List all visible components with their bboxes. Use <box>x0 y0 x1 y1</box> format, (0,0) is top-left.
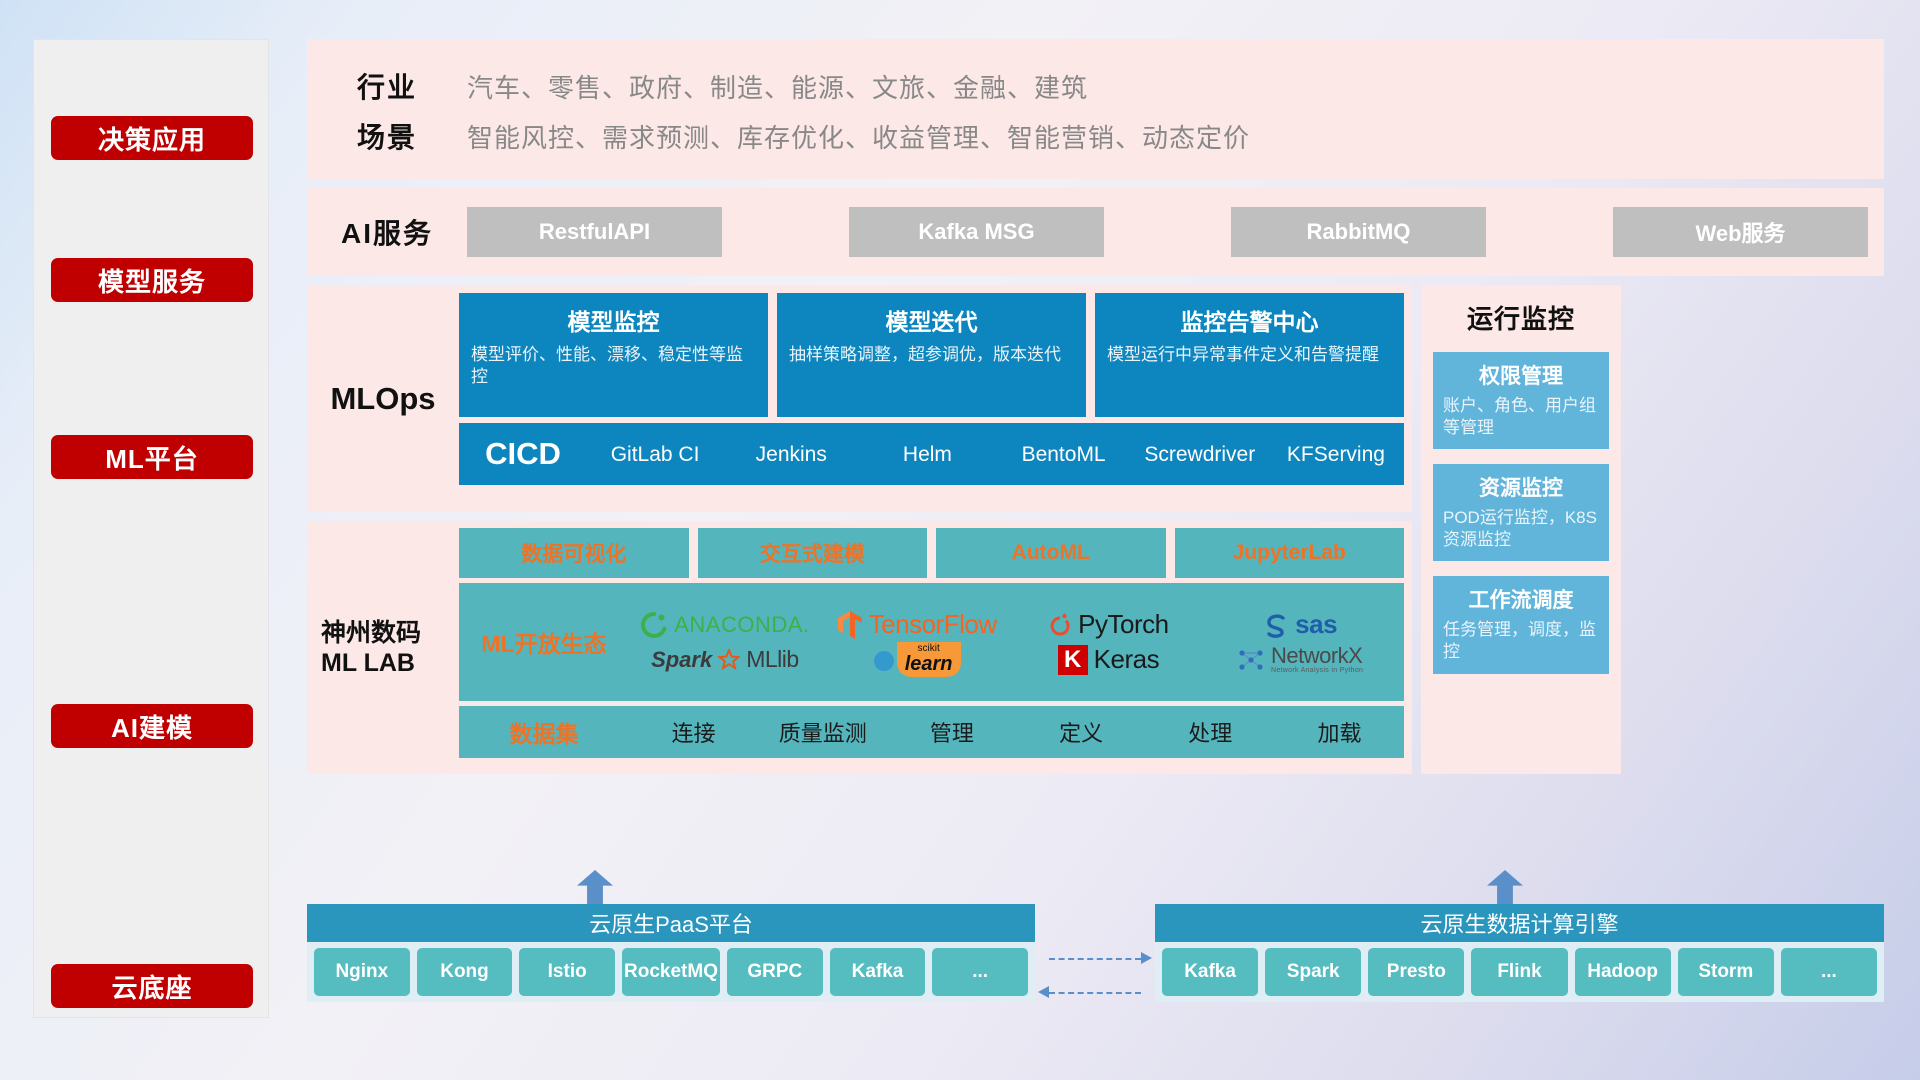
link-arrow-left-line <box>1049 992 1141 994</box>
industry-value: 汽车、零售、政府、制造、能源、文旅、金融、建筑 <box>467 68 1088 105</box>
paas-chip-kafka[interactable]: Kafka <box>830 948 926 996</box>
industry-row: 行业 汽车、零售、政府、制造、能源、文旅、金融、建筑 <box>307 61 1884 111</box>
monitor-card-resource[interactable]: 资源监控 POD运行监控，K8S资源监控 <box>1433 464 1609 561</box>
data-engine-chip-hadoop[interactable]: Hadoop <box>1575 948 1671 996</box>
dataset-item-manage[interactable]: 管理 <box>887 716 1016 748</box>
scenario-value: 智能风控、需求预测、库存优化、收益管理、智能营销、动态定价 <box>467 118 1250 155</box>
ml-lab-band: 神州数码 ML LAB 数据可视化 交互式建模 AutoML JupyterLa… <box>307 521 1412 774</box>
monitor-sidebar-panel: 运行监控 权限管理 账户、角色、用户组等管理 资源监控 POD运行监控，K8S资… <box>1421 285 1621 774</box>
architecture-diagram: 决策应用 模型服务 ML平台 AI建模 云底座 行业 汽车、零售、政府、制造、能… <box>0 0 1920 1080</box>
data-engine-chip-more[interactable]: ... <box>1781 948 1877 996</box>
industry-key: 行业 <box>307 66 467 106</box>
ai-service-chip[interactable]: Kafka MSG <box>849 207 1104 257</box>
rail-item-label: ML平台 <box>105 439 199 476</box>
dataset-item-load[interactable]: 加载 <box>1275 716 1404 748</box>
cicd-item-jenkins[interactable]: Jenkins <box>723 444 859 465</box>
mlops-body: 模型监控 模型评价、性能、漂移、稳定性等监控 模型迭代 抽样策略调整，超参调优，… <box>459 285 1412 512</box>
scenario-key: 场景 <box>307 116 467 156</box>
link-arrow-right-line <box>1049 958 1141 960</box>
ai-service-chip[interactable]: Web服务 <box>1613 207 1868 257</box>
mlops-card-title: 监控告警中心 <box>1107 303 1392 337</box>
mlops-card-title: 模型监控 <box>471 303 756 337</box>
mlops-band: MLOps 模型监控 模型评价、性能、漂移、稳定性等监控 模型迭代 抽样策略调整… <box>307 285 1412 512</box>
anaconda-mark-icon <box>640 611 668 639</box>
networkx-tagline: Network Analysis in Python <box>1271 667 1363 674</box>
paas-chip-grpc[interactable]: GRPC <box>727 948 823 996</box>
paas-up-arrow-icon <box>577 870 613 904</box>
pytorch-mark-icon <box>1048 611 1072 639</box>
dataset-strip: 数据集 连接 质量监测 管理 定义 处理 加载 <box>459 706 1404 758</box>
monitor-sidebar: 运行监控 权限管理 账户、角色、用户组等管理 资源监控 POD运行监控，K8S资… <box>1421 285 1621 783</box>
paas-chip-kong[interactable]: Kong <box>417 948 513 996</box>
mlops-card-desc: 抽样策略调整，超参调优，版本迭代 <box>789 344 1074 366</box>
scikit-learn-logo: scikit learn <box>873 642 961 677</box>
spark-wordmark: Spark <box>651 647 712 673</box>
ml-ecosystem-label: ML开放生态 <box>459 625 629 659</box>
cicd-item-helm[interactable]: Helm <box>859 444 995 465</box>
ai-service-label: AI服务 <box>307 212 467 252</box>
networkx-logo-text: NetworkX <box>1271 645 1363 667</box>
ml-ecosystem-strip: ML开放生态 ANACONDA. <box>459 583 1404 701</box>
tensorflow-logo-text: TensorFlow <box>869 609 997 640</box>
networkx-graph-icon <box>1237 647 1265 673</box>
cicd-item-gitlab-ci[interactable]: GitLab CI <box>587 444 723 465</box>
paas-chip-list: Nginx Kong Istio RocketMQ GRPC Kafka ... <box>307 942 1035 1002</box>
data-engine-chip-storm[interactable]: Storm <box>1678 948 1774 996</box>
pytorch-logo: PyTorch <box>1048 609 1168 640</box>
link-arrow-left-head-icon <box>1038 986 1049 998</box>
cicd-strip: CICD GitLab CI Jenkins Helm BentoML Scre… <box>459 423 1404 485</box>
rail-item-label: 云底座 <box>111 968 192 1005</box>
data-engine-up-arrow-icon <box>1487 870 1523 904</box>
main-column: 行业 汽车、零售、政府、制造、能源、文旅、金融、建筑 场景 智能风控、需求预测、… <box>307 39 1884 783</box>
data-engine-chip-kafka[interactable]: Kafka <box>1162 948 1258 996</box>
tensorflow-mark-icon <box>837 610 863 640</box>
rail-item-ai-modeling[interactable]: AI建模 <box>51 704 253 748</box>
dataset-item-quality[interactable]: 质量监测 <box>758 716 887 748</box>
mllib-logo-text: MLlib <box>746 646 798 673</box>
ml-lab-label-line1: 神州数码 <box>321 618 459 648</box>
cicd-item-bentoml[interactable]: BentoML <box>996 444 1132 465</box>
monitor-card-desc: 账户、角色、用户组等管理 <box>1443 395 1599 439</box>
scikit-learn-badge: scikit learn <box>897 642 961 677</box>
monitor-card-title: 权限管理 <box>1443 360 1599 390</box>
paas-title: 云原生PaaS平台 <box>307 904 1035 942</box>
paas-chip-more[interactable]: ... <box>932 948 1028 996</box>
dataset-label: 数据集 <box>459 715 629 749</box>
sas-mark-icon <box>1263 612 1289 638</box>
mlops-card-title: 模型迭代 <box>789 303 1074 337</box>
cicd-item-kfserving[interactable]: KFServing <box>1268 444 1404 465</box>
rail-item-label: 决策应用 <box>98 120 206 157</box>
platform-section: MLOps 模型监控 模型评价、性能、漂移、稳定性等监控 模型迭代 抽样策略调整… <box>307 285 1884 783</box>
rail-item-label: 模型服务 <box>98 262 206 299</box>
cicd-item-screwdriver[interactable]: Screwdriver <box>1132 444 1268 465</box>
rail-item-cloud-base[interactable]: 云底座 <box>51 964 253 1008</box>
monitor-card-desc: 任务管理，调度，监控 <box>1443 619 1599 663</box>
monitor-sidebar-title: 运行监控 <box>1433 299 1609 336</box>
mlops-label: MLOps <box>307 285 459 512</box>
mlops-card-model-monitoring[interactable]: 模型监控 模型评价、性能、漂移、稳定性等监控 <box>459 293 768 417</box>
mlops-card-alert-center[interactable]: 监控告警中心 模型运行中异常事件定义和告警提醒 <box>1095 293 1404 417</box>
learn-wordmark: learn <box>905 654 953 674</box>
dataset-item-process[interactable]: 处理 <box>1146 716 1275 748</box>
rail-item-model-service[interactable]: 模型服务 <box>51 258 253 302</box>
networkx-logo: NetworkX Network Analysis in Python <box>1237 645 1363 674</box>
tab-jupyterlab[interactable]: JupyterLab <box>1175 528 1405 578</box>
ml-lab-label: 神州数码 ML LAB <box>307 521 459 774</box>
ml-lab-body: 数据可视化 交互式建模 AutoML JupyterLab ML开放生态 <box>459 521 1412 774</box>
scenario-row: 场景 智能风控、需求预测、库存优化、收益管理、智能营销、动态定价 <box>307 111 1884 161</box>
rail-item-label: AI建模 <box>111 708 193 745</box>
spark-mllib-logo: Spark MLlib <box>651 646 799 673</box>
paas-chip-rocketmq[interactable]: RocketMQ <box>622 948 720 996</box>
tab-interactive-modeling[interactable]: 交互式建模 <box>698 528 928 578</box>
platform-main: MLOps 模型监控 模型评价、性能、漂移、稳定性等监控 模型迭代 抽样策略调整… <box>307 285 1412 783</box>
dataset-item-connect[interactable]: 连接 <box>629 716 758 748</box>
sas-logo-text: sas <box>1295 609 1337 640</box>
monitor-card-permission[interactable]: 权限管理 账户、角色、用户组等管理 <box>1433 352 1609 449</box>
cloud-base-section: 云原生PaaS平台 Nginx Kong Istio RocketMQ GRPC… <box>307 870 1884 1030</box>
keras-logo-text: Keras <box>1094 644 1159 675</box>
monitor-card-title: 工作流调度 <box>1443 584 1599 614</box>
data-engine-chip-presto[interactable]: Presto <box>1368 948 1464 996</box>
keras-mark-icon: K <box>1058 645 1088 675</box>
mlops-card-list: 模型监控 模型评价、性能、漂移、稳定性等监控 模型迭代 抽样策略调整，超参调优，… <box>459 293 1404 417</box>
paas-chip-istio[interactable]: Istio <box>519 948 615 996</box>
ai-service-band: AI服务 RestfulAPI Kafka MSG RabbitMQ Web服务 <box>307 188 1884 276</box>
keras-logo: K Keras <box>1058 644 1159 675</box>
rail-item-decision-app[interactable]: 决策应用 <box>51 116 253 160</box>
sas-logo: sas <box>1263 609 1337 640</box>
ai-service-chip-list: RestfulAPI Kafka MSG RabbitMQ Web服务 <box>467 207 1884 257</box>
mlops-card-desc: 模型运行中异常事件定义和告警提醒 <box>1107 344 1392 366</box>
tab-automl[interactable]: AutoML <box>936 528 1166 578</box>
ml-ecosystem-logo-grid: ANACONDA. TensorFlow <box>629 607 1404 677</box>
monitor-card-desc: POD运行监控，K8S资源监控 <box>1443 507 1599 551</box>
data-engine-chip-list: Kafka Spark Presto Flink Hadoop Storm ..… <box>1155 942 1884 1002</box>
bidirectional-link-arrows <box>1035 942 1155 1004</box>
tab-data-visualization[interactable]: 数据可视化 <box>459 528 689 578</box>
link-arrow-right-head-icon <box>1141 952 1152 964</box>
mlops-card-desc: 模型评价、性能、漂移、稳定性等监控 <box>471 344 756 388</box>
pytorch-logo-text: PyTorch <box>1078 609 1168 640</box>
anaconda-logo-text: ANACONDA. <box>674 612 809 638</box>
spark-star-icon <box>718 649 740 671</box>
ai-service-chip[interactable]: RabbitMQ <box>1231 207 1486 257</box>
data-engine-chip-flink[interactable]: Flink <box>1471 948 1567 996</box>
data-engine-chip-spark[interactable]: Spark <box>1265 948 1361 996</box>
monitor-card-title: 资源监控 <box>1443 472 1599 502</box>
ml-lab-label-line2: ML LAB <box>321 648 459 678</box>
rail-item-ml-platform[interactable]: ML平台 <box>51 435 253 479</box>
industry-scenario-band: 行业 汽车、零售、政府、制造、能源、文旅、金融、建筑 场景 智能风控、需求预测、… <box>307 39 1884 179</box>
cicd-title: CICD <box>459 436 587 472</box>
data-engine-title: 云原生数据计算引擎 <box>1155 904 1884 942</box>
tensorflow-logo: TensorFlow <box>837 609 997 640</box>
ai-service-chip[interactable]: RestfulAPI <box>467 207 722 257</box>
anaconda-logo: ANACONDA. <box>640 611 809 639</box>
layer-rail: 决策应用 模型服务 ML平台 AI建模 云底座 <box>33 39 269 1018</box>
dataset-item-define[interactable]: 定义 <box>1017 716 1146 748</box>
ml-lab-tab-list: 数据可视化 交互式建模 AutoML JupyterLab <box>459 528 1404 578</box>
monitor-card-workflow[interactable]: 工作流调度 任务管理，调度，监控 <box>1433 576 1609 673</box>
mlops-card-model-iteration[interactable]: 模型迭代 抽样策略调整，超参调优，版本迭代 <box>777 293 1086 417</box>
paas-chip-nginx[interactable]: Nginx <box>314 948 410 996</box>
